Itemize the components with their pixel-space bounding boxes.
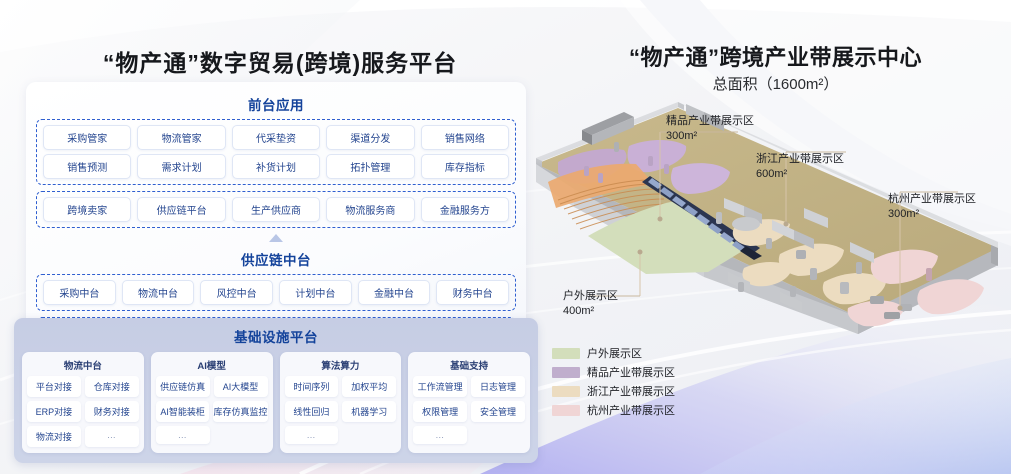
legend-swatch-premium	[552, 367, 580, 378]
chip-role-4[interactable]: 物流服务商	[326, 197, 414, 222]
legend-swatch-outdoor	[552, 348, 580, 359]
callout-hangzhou-zone: 杭州产业带展示区 300m²	[888, 192, 976, 222]
infra-cell-ai-2[interactable]: AI大模型	[214, 376, 268, 397]
callout-zhejiang-zone: 浙江产业带展示区 600m²	[756, 152, 844, 182]
legend-label-outdoor: 户外展示区	[587, 345, 642, 361]
frontend-group-1: 采购管家 物流管家 代采垫资 渠道分发 销售网络 销售预测 需求计划 补货计划 …	[36, 119, 516, 185]
infra-cell-ai-4[interactable]: 库存仿真监控	[213, 401, 267, 422]
frontend-row-1: 采购管家 物流管家 代采垫资 渠道分发 销售网络	[43, 125, 509, 150]
infrastructure-columns: 物流中台 平台对接 仓库对接 ERP对接 财务对接 物流对接 …	[22, 352, 530, 453]
infra-cell-sup-4[interactable]: 安全管理	[471, 401, 525, 422]
section-title-frontend: 前台应用	[26, 94, 526, 114]
legend-item-outdoor: 户外展示区	[552, 345, 675, 361]
callout-zhejiang-area: 600m²	[756, 167, 844, 182]
left-panel-title: “物产通”数字贸易(跨境)服务平台	[0, 44, 560, 78]
slide-canvas: “物产通”数字贸易(跨境)服务平台 前台应用 采购管家 物流管家 代采垫资 渠道…	[0, 0, 1011, 474]
infra-column-ai: AI模型 供应链仿真 AI大模型 AI智能装柜 库存仿真监控 …	[151, 352, 273, 453]
infra-cell-alg-more[interactable]: …	[285, 426, 339, 444]
chip-role-1[interactable]: 跨境卖家	[43, 197, 131, 222]
legend-label-zhejiang: 浙江产业带展示区	[587, 383, 675, 399]
infra-column-title-ai: AI模型	[156, 358, 268, 372]
legend-label-hangzhou: 杭州产业带展示区	[587, 402, 675, 418]
infra-cell-ai-blank	[214, 426, 268, 444]
chip-midend-3[interactable]: 风控中台	[200, 280, 273, 305]
frontend-row-2: 销售预测 需求计划 补货计划 拓扑管理 库存指标	[43, 154, 509, 179]
frontend-group-2: 跨境卖家 供应链平台 生产供应商 物流服务商 金融服务方	[36, 191, 516, 228]
chip-midend-2[interactable]: 物流中台	[122, 280, 195, 305]
infra-column-algorithms: 算法算力 时间序列 加权平均 线性回归 机器学习 …	[280, 352, 402, 453]
legend-item-zhejiang: 浙江产业带展示区	[552, 383, 675, 399]
infra-column-title-logistics: 物流中台	[27, 358, 139, 372]
callout-premium-zone: 精品产业带展示区 300m²	[666, 114, 754, 144]
chip-frontend-2-3[interactable]: 补货计划	[232, 154, 320, 179]
chip-frontend-1-1[interactable]: 采购管家	[43, 125, 131, 150]
callout-leader-lines	[528, 96, 1011, 361]
chip-frontend-2-4[interactable]: 拓扑管理	[326, 154, 414, 179]
chip-midend-4[interactable]: 计划中台	[279, 280, 352, 305]
midend-group-1: 采购中台 物流中台 风控中台 计划中台 金融中台 财务中台	[36, 274, 516, 311]
floorplan-legend: 户外展示区 精品产业带展示区 浙江产业带展示区 杭州产业带展示区	[552, 345, 675, 421]
infra-column-logistics: 物流中台 平台对接 仓库对接 ERP对接 财务对接 物流对接 …	[22, 352, 144, 453]
infra-cell-ai-1[interactable]: 供应链仿真	[156, 376, 210, 397]
callout-outdoor-area: 400m²	[563, 304, 618, 319]
infra-cell-alg-2[interactable]: 加权平均	[342, 376, 396, 397]
infra-cell-sup-more[interactable]: …	[413, 426, 467, 444]
infra-cell-sup-3[interactable]: 权限管理	[413, 401, 467, 422]
chip-frontend-2-1[interactable]: 销售预测	[43, 154, 131, 179]
section-title-midend: 供应链中台	[26, 249, 526, 269]
infra-column-title-support: 基础支持	[413, 358, 525, 372]
legend-label-premium: 精品产业带展示区	[587, 364, 675, 380]
infra-cell-log-1[interactable]: 平台对接	[27, 376, 81, 397]
flow-arrow-to-frontend	[269, 234, 283, 242]
right-panel-subtitle: 总面积（1600m²）	[540, 73, 1011, 94]
callout-outdoor-zone: 户外展示区 400m²	[563, 289, 618, 319]
chip-frontend-1-2[interactable]: 物流管家	[137, 125, 225, 150]
chip-role-5[interactable]: 金融服务方	[421, 197, 509, 222]
chip-midend-5[interactable]: 金融中台	[358, 280, 431, 305]
infra-cell-alg-4[interactable]: 机器学习	[342, 401, 396, 422]
infra-cell-alg-1[interactable]: 时间序列	[285, 376, 339, 397]
midend-row-1: 采购中台 物流中台 风控中台 计划中台 金融中台 财务中台	[43, 280, 509, 305]
chip-midend-6[interactable]: 财务中台	[436, 280, 509, 305]
chip-frontend-2-5[interactable]: 库存指标	[421, 154, 509, 179]
infra-cell-alg-blank	[342, 426, 396, 444]
chip-role-2[interactable]: 供应链平台	[137, 197, 225, 222]
chip-frontend-1-3[interactable]: 代采垫资	[232, 125, 320, 150]
callout-premium-area: 300m²	[666, 129, 754, 144]
chip-midend-1[interactable]: 采购中台	[43, 280, 116, 305]
infra-cell-ai-3[interactable]: AI智能装柜	[156, 401, 210, 422]
infra-cell-alg-3[interactable]: 线性回归	[285, 401, 339, 422]
legend-item-premium: 精品产业带展示区	[552, 364, 675, 380]
infra-cell-sup-1[interactable]: 工作流管理	[413, 376, 467, 397]
infra-cell-ai-more[interactable]: …	[156, 426, 210, 444]
infra-cell-log-5[interactable]: 物流对接	[27, 426, 81, 447]
chip-frontend-1-4[interactable]: 渠道分发	[326, 125, 414, 150]
section-title-infrastructure: 基础设施平台	[22, 326, 530, 346]
legend-item-hangzhou: 杭州产业带展示区	[552, 402, 675, 418]
callout-zhejiang-name: 浙江产业带展示区	[756, 152, 844, 167]
infra-cell-sup-2[interactable]: 日志管理	[471, 376, 525, 397]
callout-hangzhou-name: 杭州产业带展示区	[888, 192, 976, 207]
right-panel-title: “物产通”跨境产业带展示中心	[540, 40, 1011, 72]
callout-outdoor-name: 户外展示区	[563, 289, 618, 304]
infra-cell-log-3[interactable]: ERP对接	[27, 401, 81, 422]
chip-frontend-2-2[interactable]: 需求计划	[137, 154, 225, 179]
infra-column-title-algorithms: 算法算力	[285, 358, 397, 372]
legend-swatch-hangzhou	[552, 405, 580, 416]
callout-premium-name: 精品产业带展示区	[666, 114, 754, 129]
chip-role-3[interactable]: 生产供应商	[232, 197, 320, 222]
callout-hangzhou-area: 300m²	[888, 207, 976, 222]
infra-cell-sup-blank	[471, 426, 525, 444]
legend-swatch-zhejiang	[552, 386, 580, 397]
frontend-row-3: 跨境卖家 供应链平台 生产供应商 物流服务商 金融服务方	[43, 197, 509, 222]
infra-cell-log-more[interactable]: …	[85, 426, 139, 447]
infrastructure-panel: 基础设施平台 物流中台 平台对接 仓库对接 ERP对接 财务对接 物流对接 …	[14, 318, 538, 463]
infra-column-support: 基础支持 工作流管理 日志管理 权限管理 安全管理 …	[408, 352, 530, 453]
infra-cell-log-2[interactable]: 仓库对接	[85, 376, 139, 397]
infra-cell-log-4[interactable]: 财务对接	[85, 401, 139, 422]
chip-frontend-1-5[interactable]: 销售网络	[421, 125, 509, 150]
